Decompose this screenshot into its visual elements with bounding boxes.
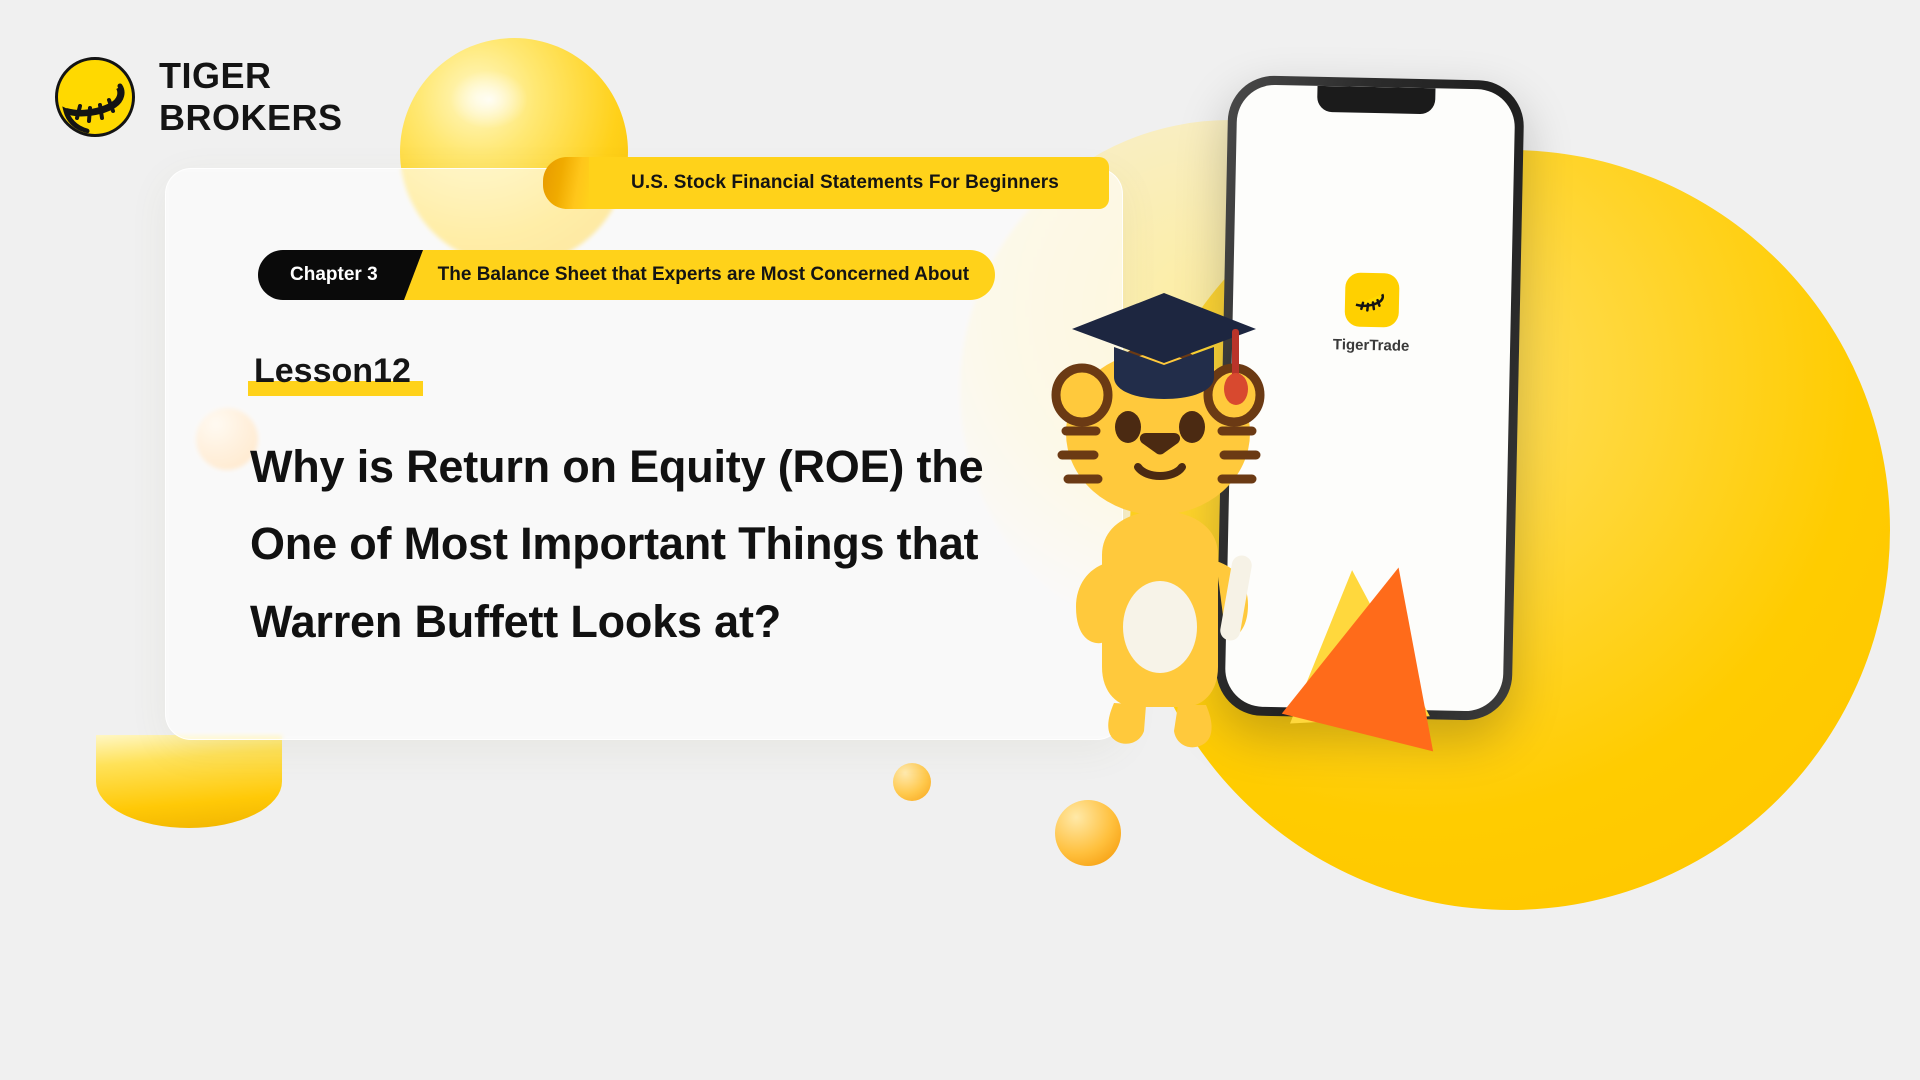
chapter-label: Chapter 3 [258, 250, 404, 300]
app-name-label: TigerTrade [1333, 336, 1410, 355]
brand-name: TIGER BROKERS [159, 55, 343, 139]
phone-notch [1317, 86, 1436, 114]
brand-name-line2: BROKERS [159, 97, 343, 139]
chapter-tag: Chapter 3 The Balance Sheet that Experts… [258, 250, 995, 300]
series-title-ribbon: U.S. Stock Financial Statements For Begi… [543, 157, 1109, 209]
ribbon-fold-shape [543, 157, 589, 209]
brand-name-line1: TIGER [159, 55, 343, 97]
lesson-label: Lesson12 [250, 352, 415, 393]
half-dome-shape [96, 735, 282, 828]
brand-logo: TIGER BROKERS [55, 55, 343, 139]
page-title: Why is Return on Equity (ROE) the One of… [250, 428, 1050, 660]
tiger-head-icon [55, 57, 135, 137]
orange-sphere-small-shape [1055, 800, 1121, 866]
orange-sphere-tiny-shape [893, 763, 931, 801]
tigertrade-app-icon [1344, 272, 1399, 327]
series-title-text: U.S. Stock Financial Statements For Begi… [595, 157, 1095, 209]
chapter-title-text: The Balance Sheet that Experts are Most … [404, 250, 995, 300]
tiger-mascot-graduate [1010, 255, 1310, 755]
